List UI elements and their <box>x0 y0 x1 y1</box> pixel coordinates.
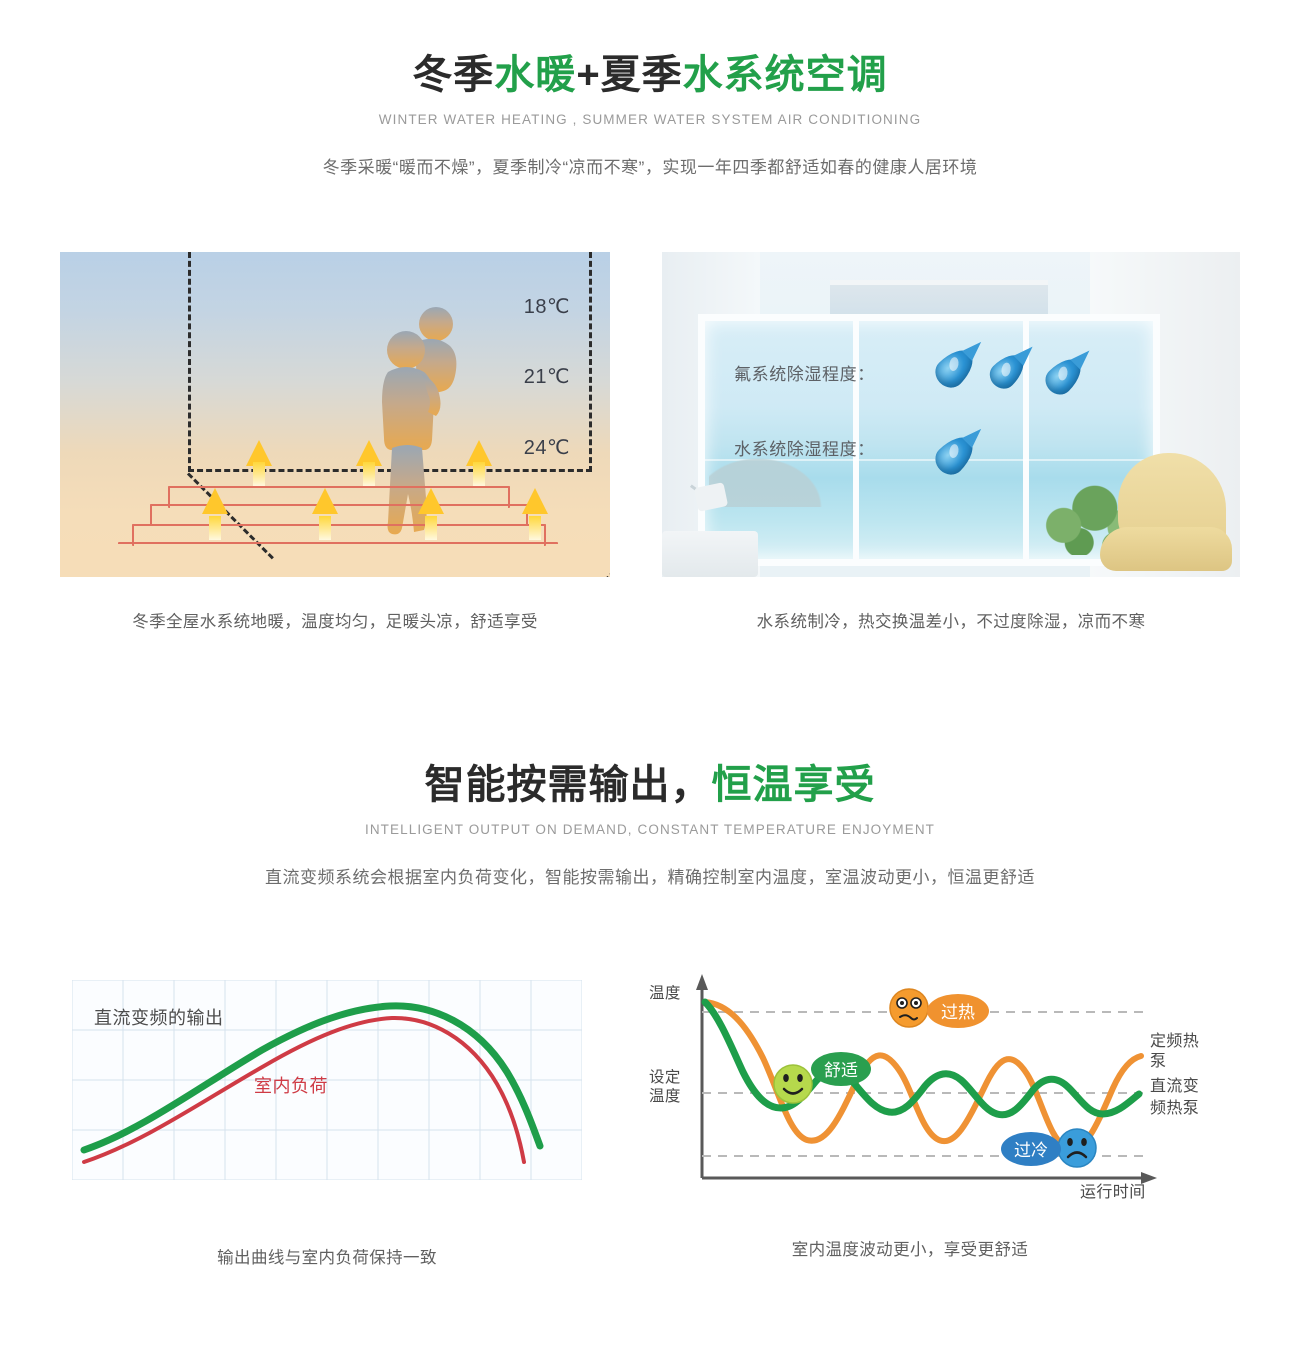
inverter-output-label: 直流变频的输出 <box>94 1004 224 1030</box>
hot-face-icon <box>890 989 928 1027</box>
legend-dc-inverter: 直流变频热泵 <box>1150 1076 1214 1119</box>
temperature-label-bottom: 24℃ <box>524 435 570 460</box>
heat-arrow-icon <box>466 440 492 486</box>
fixed-frequency-curve <box>705 1002 1141 1149</box>
right-chart-caption: 室内温度波动更小，享受更舒适 <box>625 1236 1195 1260</box>
title-part-3: 夏季 <box>601 53 683 97</box>
title2-part-1: 恒温享受 <box>712 763 876 807</box>
water-system-label: 水系统除湿程度： <box>734 435 875 460</box>
temperature-label-middle: 21℃ <box>524 364 570 389</box>
x-axis-label-runtime: 运行时间 <box>1080 1183 1146 1203</box>
title-part-2: + <box>576 53 600 97</box>
overcool-badge-label: 过冷 <box>1014 1141 1048 1160</box>
comfort-badge: 舒适 <box>811 1052 871 1086</box>
temperature-fluctuation-chart: 舒适 过热 过冷 温度 设定温度 运行时间 定频热泵 直流变频热泵 室内温度波动… <box>645 968 1215 1213</box>
heating-coil-loop-1 <box>118 542 558 546</box>
section-2-title: 智能按需输出，恒温享受 <box>0 762 1300 808</box>
yellow-armchair <box>1094 449 1232 577</box>
section-1-subtitle-en: WINTER WATER HEATING , SUMMER WATER SYST… <box>0 112 1300 127</box>
floor-edge-right <box>541 557 610 577</box>
y-axis-arrow <box>696 974 708 990</box>
overheat-badge-label: 过热 <box>941 1003 975 1022</box>
section-1-title: 冬季水暖+夏季水系统空调 <box>0 52 1300 98</box>
heat-arrow-icon <box>418 488 448 540</box>
temperature-label-top: 18℃ <box>524 294 570 319</box>
heat-arrow-icon <box>356 440 382 486</box>
section-2-description: 直流变频系统会根据室内负荷变化，智能按需输出，精确控制室内温度，室温波动更小，恒… <box>0 863 1300 888</box>
title2-part-0: 智能按需输出， <box>425 763 712 807</box>
heat-arrow-icon <box>202 488 232 540</box>
floor-heating-caption: 冬季全屋水系统地暖，温度均匀，足暖头凉，舒适享受 <box>60 608 610 632</box>
y-axis-label-setpoint: 设定温度 <box>649 1068 681 1107</box>
heat-arrow-icon <box>522 488 552 540</box>
sofa <box>662 531 758 577</box>
y-axis-label-temperature: 温度 <box>649 984 681 1003</box>
heat-arrow-icon <box>246 440 272 486</box>
section-2-subtitle-en: INTELLIGENT OUTPUT ON DEMAND, CONSTANT T… <box>0 822 1300 837</box>
title-part-0: 冬季 <box>412 53 494 97</box>
overheat-badge: 过热 <box>927 994 989 1028</box>
happy-face-icon <box>774 1065 812 1103</box>
legend-fixed-frequency: 定频热泵 <box>1150 1032 1215 1072</box>
dehumidification-caption: 水系统制冷，热交换温差小，不过度除湿，凉而不寒 <box>662 608 1240 632</box>
title-part-1: 水暖 <box>494 53 576 97</box>
overcool-badge: 过冷 <box>1001 1132 1061 1166</box>
section-1-header: 冬季水暖+夏季水系统空调 WINTER WATER HEATING , SUMM… <box>0 52 1300 178</box>
section-1-panels: 18℃ 21℃ 24℃ <box>60 252 1240 632</box>
indoor-load-label: 室内负荷 <box>254 1072 328 1098</box>
output-vs-load-chart: 直流变频的输出 室内负荷 输出曲线与室内负荷保持一致 <box>72 980 582 1268</box>
title-part-4: 水系统空调 <box>683 53 888 97</box>
fluorine-system-label: 氟系统除湿程度： <box>734 360 875 385</box>
comfort-badge-label: 舒适 <box>824 1061 858 1080</box>
floor-heating-panel: 18℃ 21℃ 24℃ <box>60 252 610 632</box>
room-photo-illustration: 氟系统除湿程度： 水系统除湿程度： <box>662 252 1240 577</box>
left-chart-caption: 输出曲线与室内负荷保持一致 <box>72 1244 582 1268</box>
dehumidification-panel: 氟系统除湿程度： 水系统除湿程度： 水系统制冷，热交换温差小，不过度除湿，凉而不… <box>662 252 1240 632</box>
sad-face-icon <box>1058 1129 1096 1167</box>
section-1-description: 冬季采暖“暖而不燥”，夏季制冷“凉而不寒”，实现一年四季都舒适如春的健康人居环境 <box>0 153 1300 178</box>
temperature-chart-svg: 舒适 过热 过冷 <box>645 968 1215 1213</box>
floor-heating-illustration: 18℃ 21℃ 24℃ <box>60 252 610 577</box>
heat-arrow-icon <box>312 488 342 540</box>
section-2-header: 智能按需输出，恒温享受 INTELLIGENT OUTPUT ON DEMAND… <box>0 762 1300 888</box>
